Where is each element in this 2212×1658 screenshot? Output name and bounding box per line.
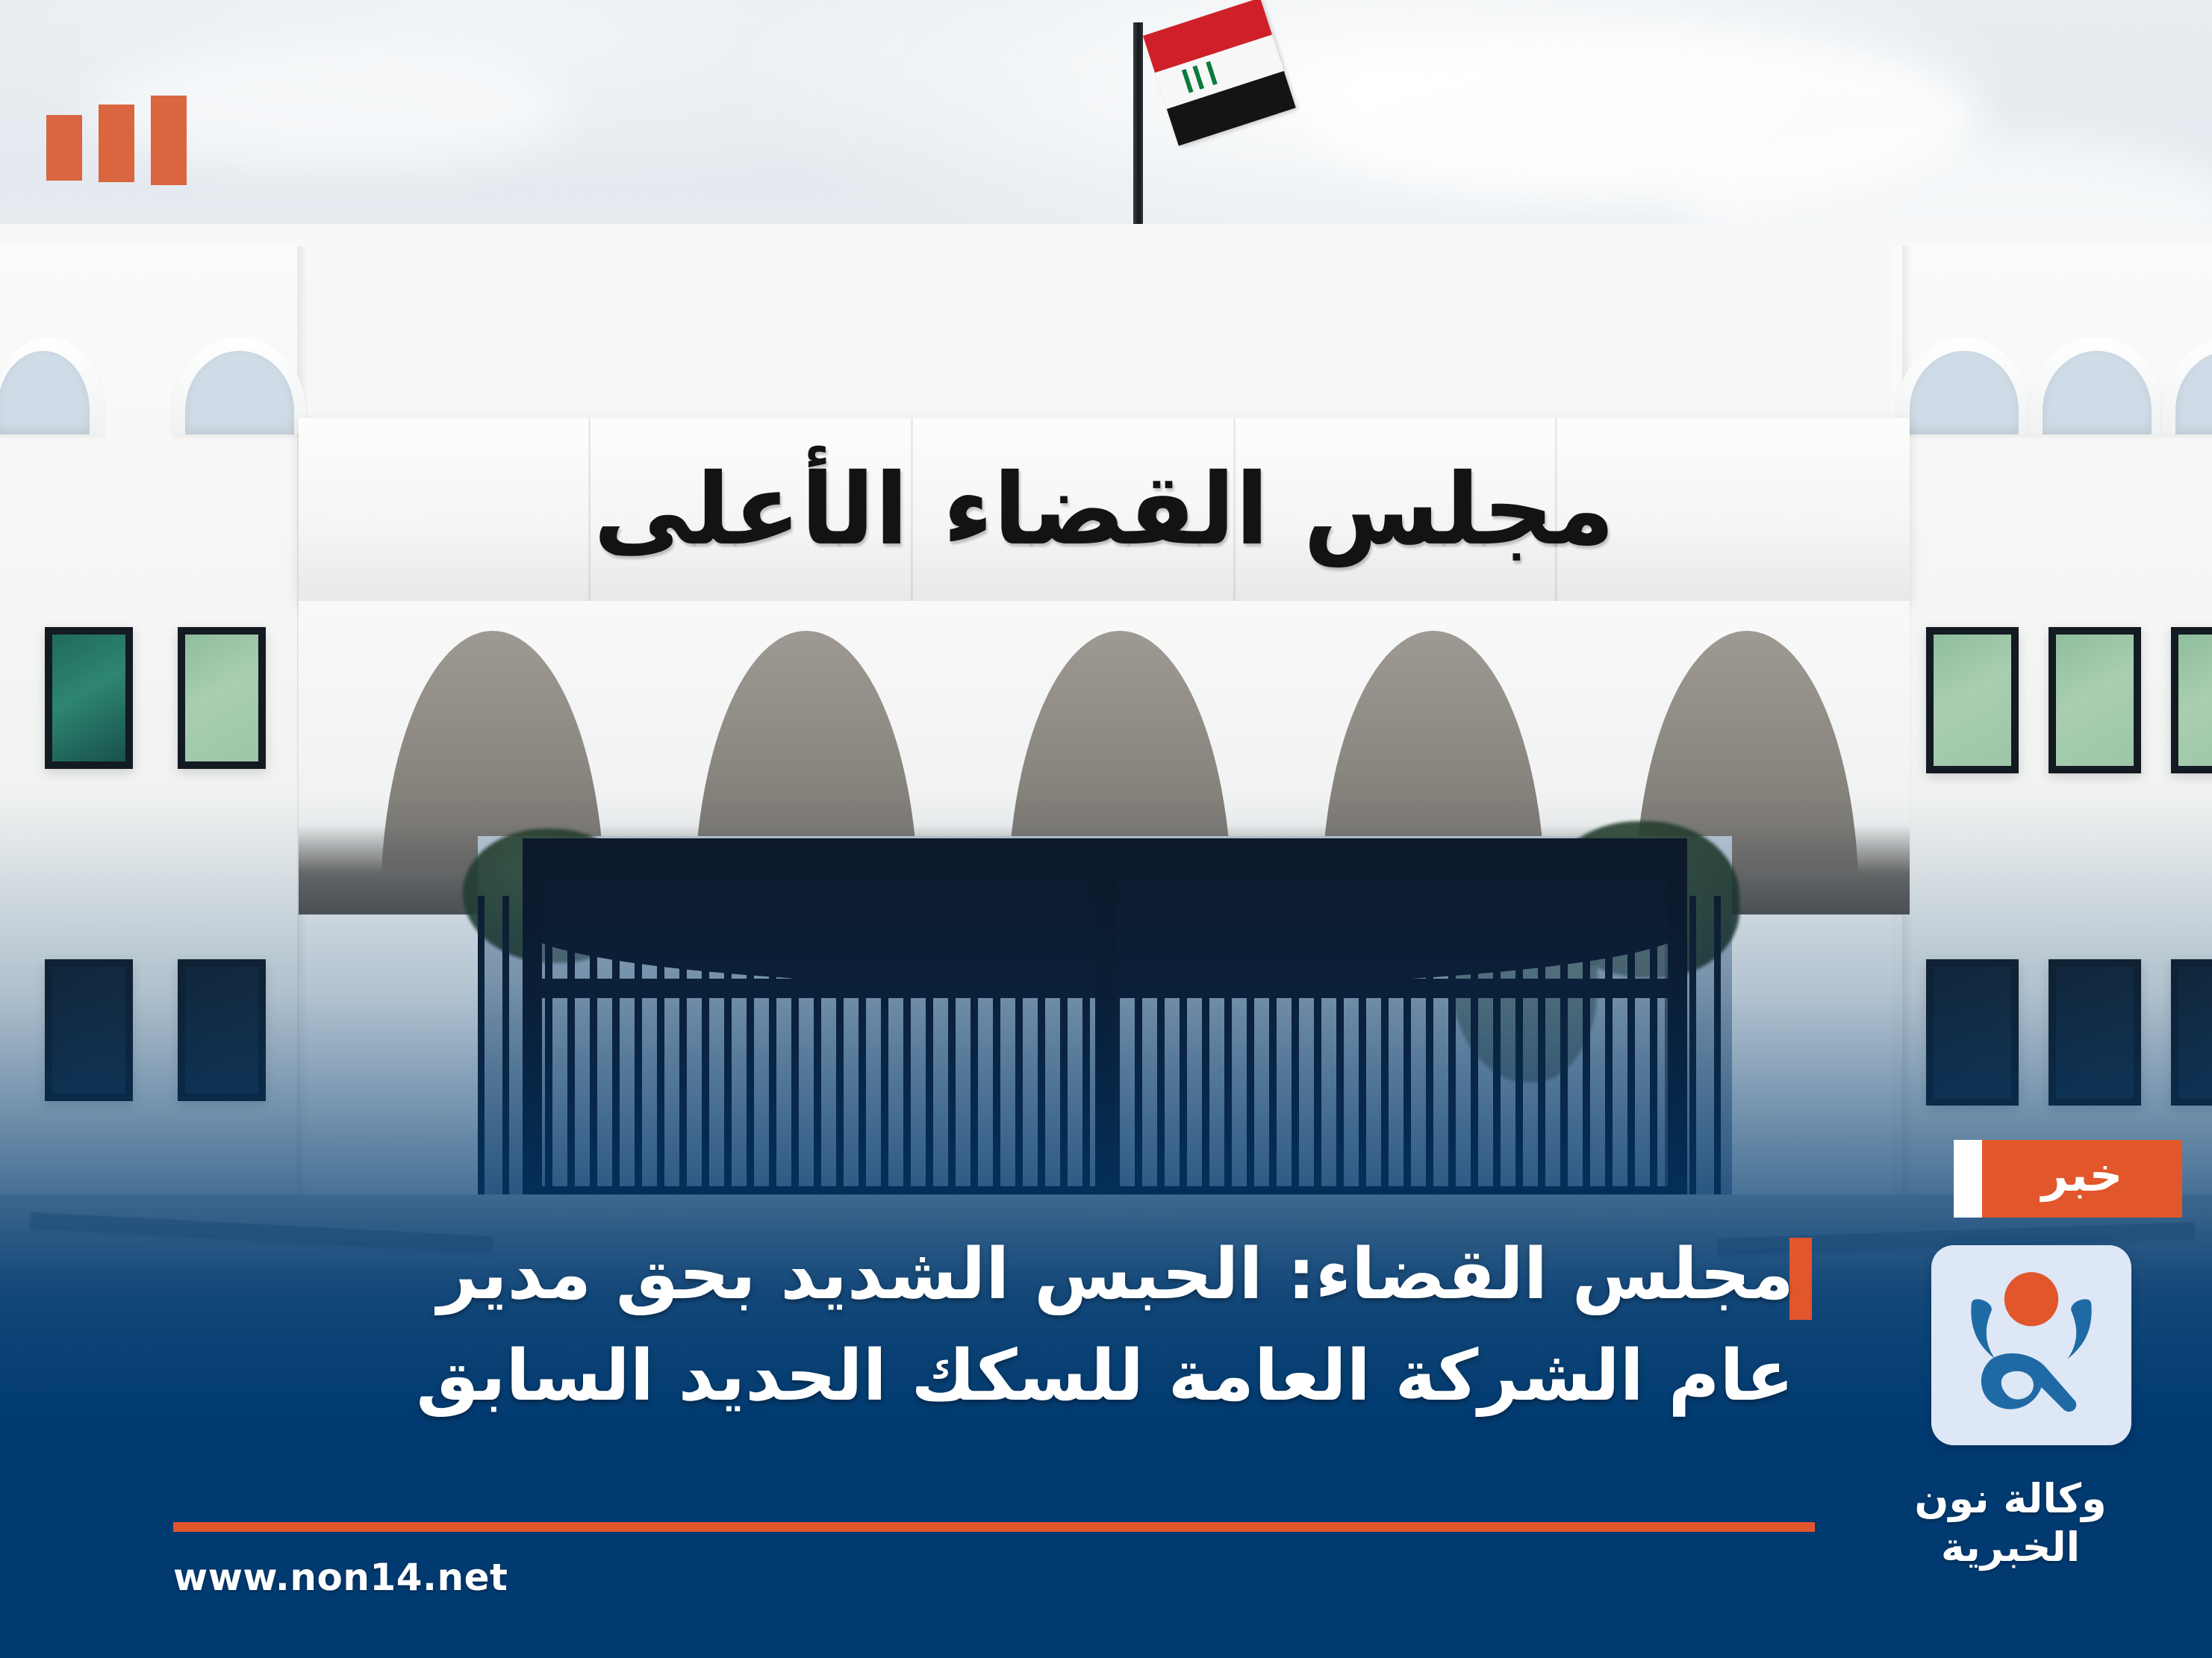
agency-logo [1931,1245,2131,1445]
headline-line-1: مجلس القضاء: الحبس الشديد بحق مدير [90,1224,1794,1326]
headline-line-2: عام الشركة العامة للسكك الحديد السابق [90,1326,1794,1427]
headline: مجلس القضاء: الحبس الشديد بحق مدير عام ا… [90,1224,1794,1428]
news-badge: خبر [1954,1140,2182,1218]
news-card: مجلس القضاء الأعلى [0,0,2212,1658]
website-url: www.non14.net [173,1556,508,1599]
news-badge-label: خبر [1982,1140,2182,1218]
footer-divider [173,1522,1815,1532]
agency-logo-glyph [1931,1245,2131,1445]
agency-name: وكالة نون الخبرية [1854,1475,2167,1572]
bar-3 [46,115,82,181]
three-bars-mark [46,96,187,185]
bar-1 [151,96,187,185]
news-badge-tick [1954,1140,1982,1218]
bar-2 [99,105,134,182]
